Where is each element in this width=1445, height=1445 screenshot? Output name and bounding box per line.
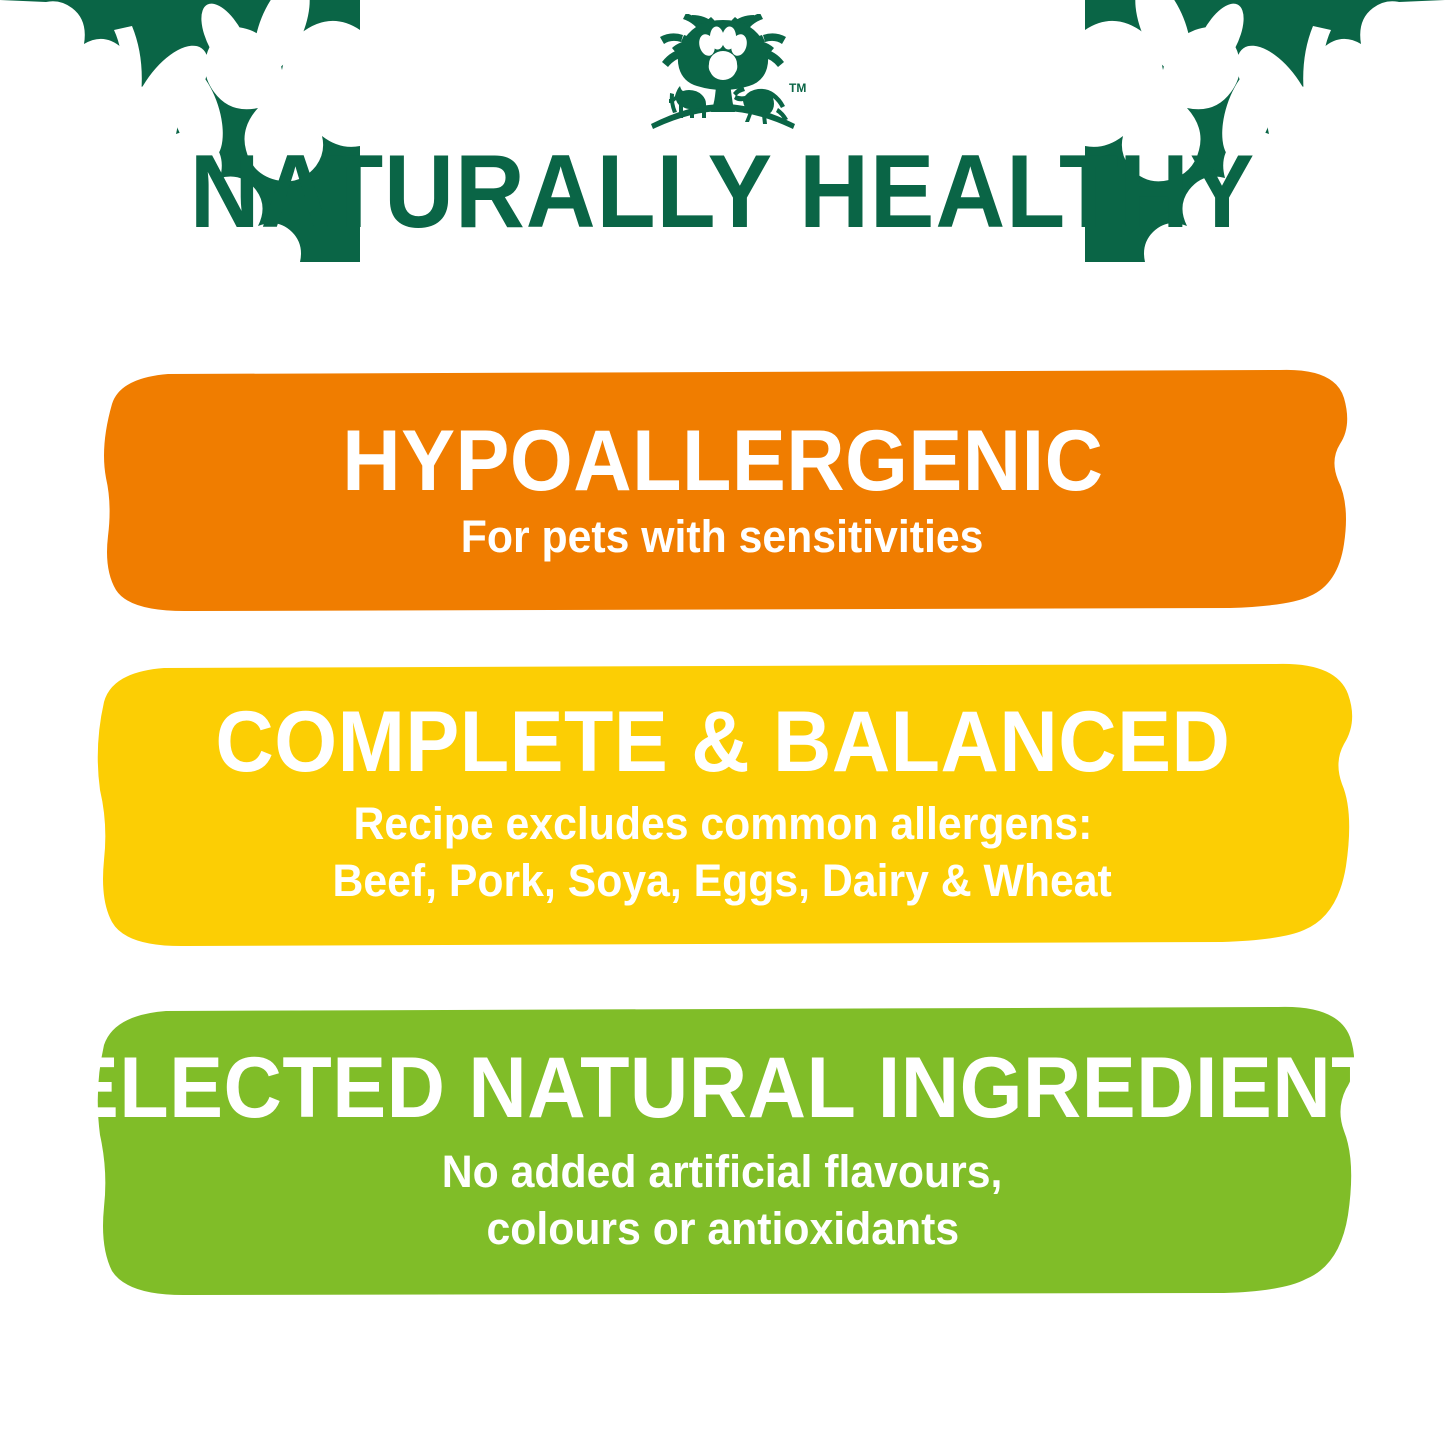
banner-title: COMPLETE & BALANCED [215, 699, 1230, 785]
banner-content: SELECTED NATURAL INGREDIENTS No added ar… [0, 1005, 1445, 1297]
product-feature-panel: TM NATURALLY HEALTHY HYPOALLERGENIC For … [0, 0, 1445, 1445]
banner-subtitle-line-1: No added artificial flavours, [442, 1143, 1003, 1200]
banner-content: COMPLETE & BALANCED Recipe excludes comm… [0, 660, 1445, 948]
trademark-symbol: TM [789, 81, 806, 95]
banner-subtitle-line-1: For pets with sensitivities [461, 510, 984, 564]
header: TM NATURALLY HEALTHY [0, 0, 1445, 265]
banner-content: HYPOALLERGENIC For pets with sensitiviti… [0, 368, 1445, 613]
tree-paw-logo-icon: TM [639, 14, 807, 140]
feature-banner-hypoallergenic: HYPOALLERGENIC For pets with sensitiviti… [0, 368, 1445, 613]
banner-title: SELECTED NATURAL INGREDIENTS [10, 1045, 1435, 1131]
banner-title: HYPOALLERGENIC [342, 418, 1103, 504]
page-title: NATURALLY HEALTHY [51, 138, 1395, 246]
banner-subtitle-line-2: colours or antioxidants [486, 1200, 959, 1257]
banner-subtitle-line-1: Recipe excludes common allergens: [353, 795, 1092, 852]
banner-subtitle-line-2: Beef, Pork, Soya, Eggs, Dairy & Wheat [333, 852, 1112, 909]
feature-banner-complete-balanced: COMPLETE & BALANCED Recipe excludes comm… [0, 660, 1445, 948]
feature-banner-selected-ingredients: SELECTED NATURAL INGREDIENTS No added ar… [0, 1005, 1445, 1297]
